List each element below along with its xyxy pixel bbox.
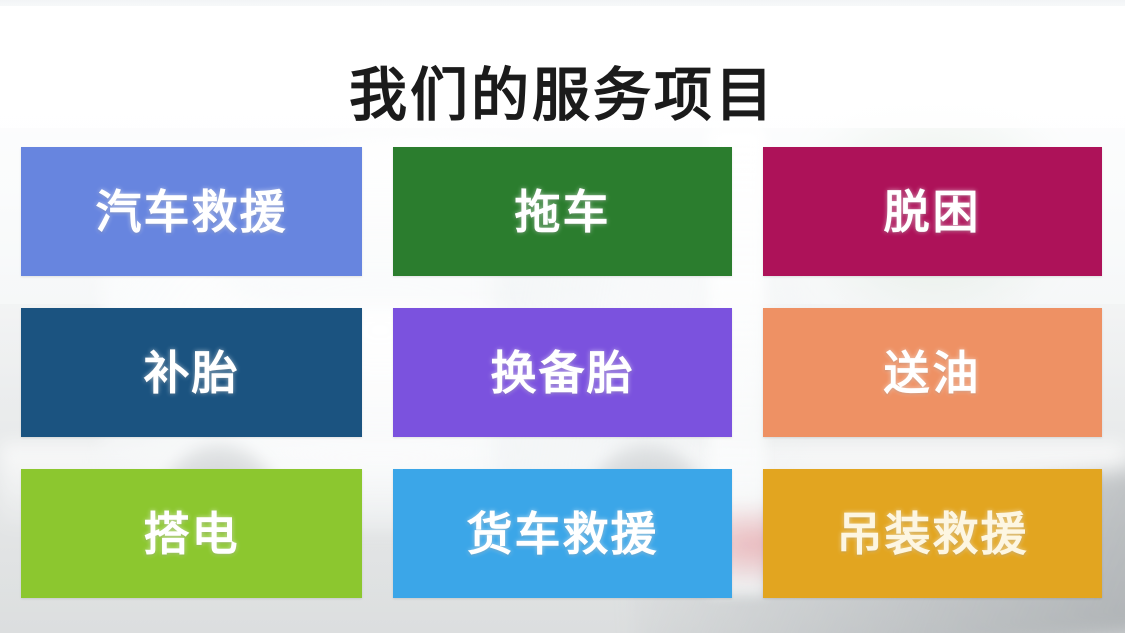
service-tile-label: 货车救援 <box>467 508 659 560</box>
service-tile-truck-rescue[interactable]: 货车救援 <box>393 469 732 598</box>
service-tile-label: 脱困 <box>884 186 982 238</box>
service-tile-label: 吊装救援 <box>837 508 1029 560</box>
service-tile-label: 汽车救援 <box>96 186 288 238</box>
page-title: 我们的服务项目 <box>349 61 776 129</box>
service-tile-jump-start[interactable]: 搭电 <box>21 469 362 598</box>
service-tile-fuel-delivery[interactable]: 送油 <box>763 308 1102 437</box>
page-title-container: 我们的服务项目 <box>0 22 1125 168</box>
service-tile-hoisting-rescue[interactable]: 吊装救援 <box>763 469 1102 598</box>
service-tile-spare-tire-change[interactable]: 换备胎 <box>393 308 732 437</box>
service-tile-grid: 汽车救援 拖车 脱困 补胎 换备胎 送油 搭电 货车救援 吊装救援 <box>21 147 1102 598</box>
service-tile-label: 拖车 <box>515 186 611 238</box>
service-tile-tire-repair[interactable]: 补胎 <box>21 308 362 437</box>
service-tile-label: 送油 <box>884 347 982 399</box>
service-tile-label: 换备胎 <box>491 347 635 399</box>
service-tile-label: 搭电 <box>144 508 240 560</box>
service-tile-label: 补胎 <box>144 347 240 399</box>
service-poster: 我们的服务项目 汽车救援 拖车 脱困 补胎 换备胎 送油 搭电 货车救援 吊装救… <box>0 0 1125 633</box>
